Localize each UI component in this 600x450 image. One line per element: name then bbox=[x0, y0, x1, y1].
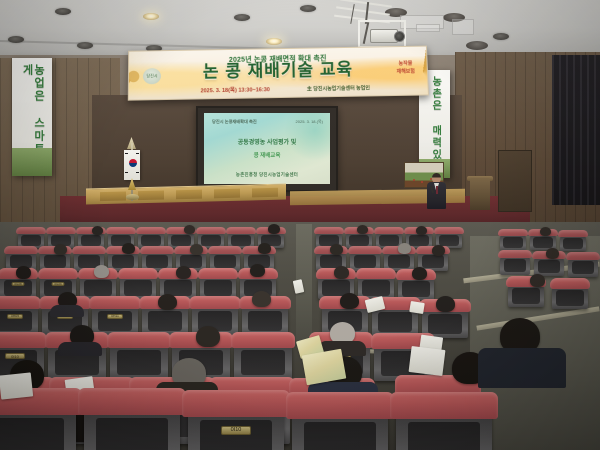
slide-header: 당진시 논콩재배확대 촉진 bbox=[212, 119, 257, 125]
attendee-head bbox=[184, 225, 195, 234]
downlight-icon bbox=[300, 5, 316, 12]
seat[interactable] bbox=[84, 408, 180, 450]
flag-taeguk-symbol bbox=[129, 159, 137, 167]
stage-side-door bbox=[498, 150, 532, 212]
attendee-head bbox=[398, 243, 411, 254]
seat[interactable] bbox=[292, 412, 388, 450]
wall-banner-left-footer bbox=[12, 148, 52, 176]
attendee-head bbox=[190, 244, 203, 255]
seat[interactable] bbox=[552, 286, 588, 309]
ceiling-speaker-icon bbox=[466, 41, 488, 50]
wall-banner-left: 농업은 스마트하게 bbox=[12, 58, 52, 176]
auditorium-photo: 농업은 스마트하게 농촌은 매력있게 당진시 2025년 논콩 재배면적 확대 … bbox=[0, 0, 600, 450]
seat[interactable] bbox=[142, 306, 188, 335]
projector-lens-icon bbox=[394, 31, 405, 42]
banner-logo-right: 농작물재해보험 bbox=[396, 61, 415, 76]
handout-paper bbox=[0, 372, 33, 399]
seat[interactable]: 0I10 bbox=[188, 410, 284, 450]
projection-screen: 당진시 논콩재배확대 촉진 2025. 3. 18.(목) 공동경영농 사업평가… bbox=[196, 106, 338, 192]
attendee-head bbox=[196, 326, 220, 347]
seat[interactable] bbox=[508, 284, 544, 307]
attendee-head bbox=[122, 243, 135, 254]
attendee-head bbox=[546, 248, 559, 259]
attendee-head bbox=[357, 225, 368, 234]
seat[interactable]: 0H09 bbox=[0, 306, 38, 335]
attendee-head bbox=[54, 244, 67, 255]
attendee-head bbox=[340, 293, 359, 309]
stage-apron-panel bbox=[100, 191, 126, 201]
seat[interactable] bbox=[560, 235, 586, 251]
attendee-head bbox=[436, 296, 455, 312]
downlight-icon bbox=[493, 33, 509, 40]
ceiling-access-panel bbox=[452, 19, 474, 35]
flag-base bbox=[126, 194, 139, 200]
downlight-icon bbox=[55, 8, 71, 15]
stage-apron-panel bbox=[252, 188, 278, 198]
handout-paper bbox=[409, 346, 446, 376]
attendee-head bbox=[334, 266, 349, 279]
attendee-head bbox=[258, 243, 271, 254]
seat[interactable]: 0H11 bbox=[92, 306, 138, 335]
attendee-head bbox=[412, 267, 427, 280]
seat[interactable] bbox=[0, 408, 76, 450]
attendee-head bbox=[330, 244, 343, 255]
flag-trigram bbox=[125, 172, 128, 173]
slide-footer: 농촌진흥청 당진시농업기술센터 bbox=[204, 172, 330, 178]
slide-title: 공동경영농 사업평가 및 bbox=[204, 139, 330, 149]
podium bbox=[470, 178, 490, 210]
attendee-head bbox=[252, 291, 271, 307]
attendee-head bbox=[158, 294, 177, 310]
slide-date: 2025. 3. 18.(목) bbox=[296, 119, 323, 125]
attendee-head bbox=[432, 245, 445, 256]
downlight-icon bbox=[77, 42, 93, 49]
attendee-shoulders bbox=[58, 342, 102, 356]
ceiling-vent-panel bbox=[416, 24, 440, 32]
seat[interactable] bbox=[242, 306, 288, 335]
downlight-icon bbox=[234, 14, 250, 21]
seat[interactable] bbox=[234, 344, 292, 380]
seat[interactable] bbox=[568, 258, 598, 277]
seat[interactable] bbox=[500, 256, 530, 275]
flag-trigram bbox=[136, 172, 139, 173]
attendee-head bbox=[16, 266, 31, 279]
attendee-head bbox=[250, 264, 265, 277]
presenter-tie bbox=[436, 186, 438, 194]
stage-apron-panel bbox=[176, 190, 202, 200]
downlight-lit-icon bbox=[266, 38, 282, 45]
flag-trigram bbox=[125, 153, 128, 154]
attendee-head bbox=[176, 266, 191, 279]
seat[interactable] bbox=[500, 234, 526, 250]
attendee-shoulders bbox=[50, 305, 84, 317]
seat[interactable] bbox=[110, 344, 168, 380]
projection-screen-surface: 당진시 논콩재배확대 촉진 2025. 3. 18.(목) 공동경영농 사업평가… bbox=[204, 113, 330, 184]
stage-apron-panel bbox=[138, 191, 164, 201]
downlight-lit-icon bbox=[143, 13, 159, 20]
attendee-head bbox=[530, 274, 545, 287]
handout-paper bbox=[409, 301, 425, 314]
attendee-head bbox=[416, 226, 427, 235]
attendee-shoulders bbox=[478, 348, 566, 388]
attendee-head bbox=[268, 224, 280, 234]
right-dark-curtain bbox=[552, 55, 600, 205]
attendee-head bbox=[94, 265, 109, 278]
attendee-head bbox=[540, 227, 551, 236]
event-banner: 당진시 2025년 논콩 재배면적 확대 촉진 논 콩 재배기술 교육 2025… bbox=[128, 46, 429, 101]
seat[interactable] bbox=[396, 412, 492, 450]
slide-subtitle: 콩 재배교육 bbox=[204, 151, 330, 159]
downlight-icon bbox=[8, 36, 24, 43]
attendee-head bbox=[92, 226, 103, 235]
flag-trigram bbox=[136, 153, 139, 154]
stage-apron-panel bbox=[214, 189, 240, 199]
